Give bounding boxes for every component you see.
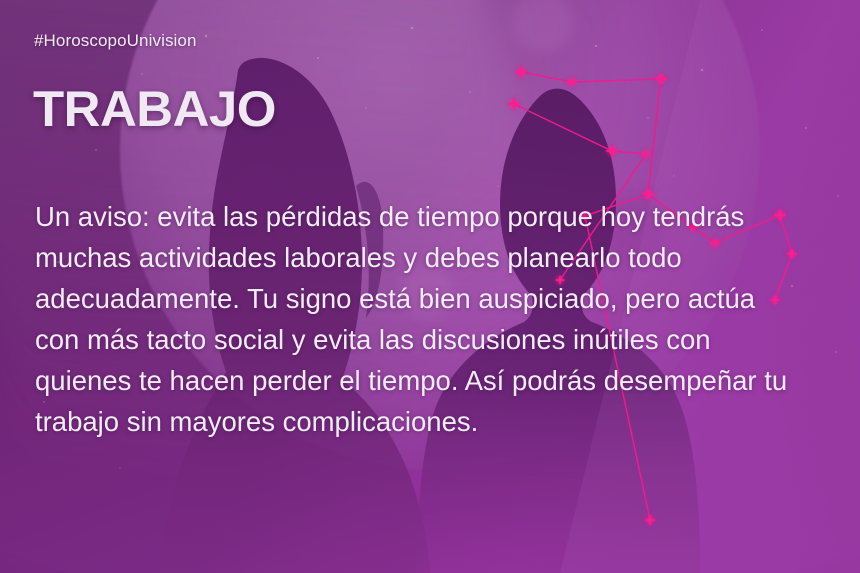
card-content: #HoroscopoUnivision TRABAJO Un aviso: ev… <box>0 0 860 573</box>
horoscope-body-text: Un aviso: evita las pérdidas de tiempo p… <box>35 196 807 442</box>
hashtag-label: #HoroscopoUnivision <box>34 31 197 51</box>
horoscope-card: #HoroscopoUnivision TRABAJO Un aviso: ev… <box>0 0 860 573</box>
page-title: TRABAJO <box>33 84 276 134</box>
